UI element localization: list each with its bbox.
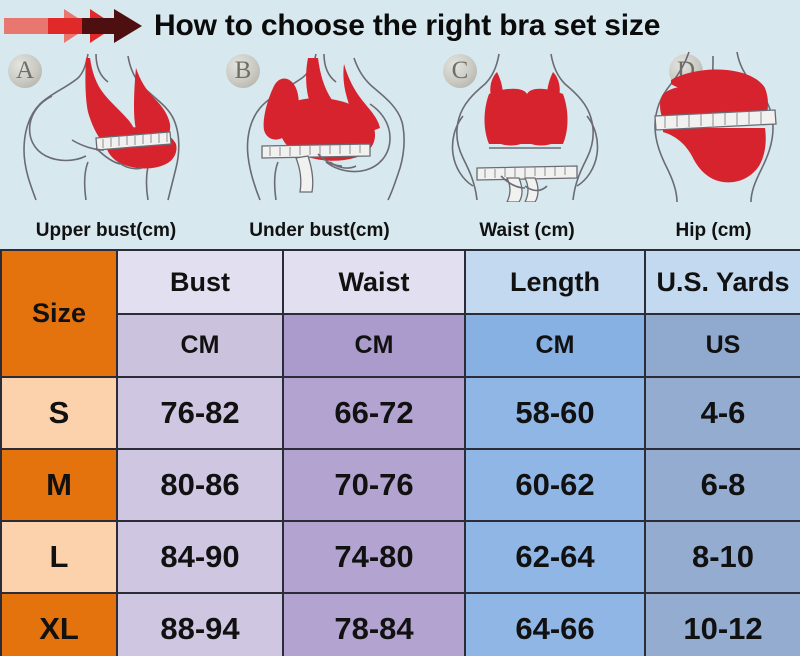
cell-size: XL xyxy=(1,593,117,656)
size-chart-page: How to choose the right bra set size A xyxy=(0,0,800,656)
cell-bust: 76-82 xyxy=(117,377,283,449)
cell-waist: 74-80 xyxy=(283,521,465,593)
table-row: M 80-86 70-76 60-62 6-8 xyxy=(1,449,800,521)
panel-caption-waist: Waist (cm) xyxy=(427,220,627,242)
unit-length: CM xyxy=(465,314,645,377)
header-bust: Bust xyxy=(117,250,283,314)
cell-us-yards: 4-6 xyxy=(645,377,800,449)
waist-measure-illustration xyxy=(427,50,627,202)
header-size: Size xyxy=(1,250,117,377)
table-unit-row: CM CM CM US xyxy=(1,314,800,377)
cell-bust: 84-90 xyxy=(117,521,283,593)
cell-length: 64-66 xyxy=(465,593,645,656)
cell-bust: 88-94 xyxy=(117,593,283,656)
size-table: Size Bust Waist Length U.S. Yards CM CM … xyxy=(0,249,800,656)
panel-caption-upper-bust: Upper bust(cm) xyxy=(0,220,212,242)
header-us-yards: U.S. Yards xyxy=(645,250,800,314)
panel-caption-under-bust: Under bust(cm) xyxy=(212,220,427,242)
header-waist: Waist xyxy=(283,250,465,314)
page-title: How to choose the right bra set size xyxy=(154,11,660,41)
cell-bust: 80-86 xyxy=(117,449,283,521)
upper-bust-measure-illustration xyxy=(0,50,212,202)
panel-upper-bust: A xyxy=(0,48,212,248)
cell-us-yards: 6-8 xyxy=(645,449,800,521)
cell-size: L xyxy=(1,521,117,593)
cell-waist: 78-84 xyxy=(283,593,465,656)
hip-measure-illustration xyxy=(627,50,800,202)
table-header-row: Size Bust Waist Length U.S. Yards xyxy=(1,250,800,314)
unit-bust: CM xyxy=(117,314,283,377)
table-row: L 84-90 74-80 62-64 8-10 xyxy=(1,521,800,593)
cell-us-yards: 8-10 xyxy=(645,521,800,593)
cell-length: 60-62 xyxy=(465,449,645,521)
unit-us-yards: US xyxy=(645,314,800,377)
panel-under-bust: B xyxy=(212,48,427,248)
cell-us-yards: 10-12 xyxy=(645,593,800,656)
panel-caption-hip: Hip (cm) xyxy=(627,220,800,242)
panel-waist: C xyxy=(427,48,627,248)
cell-size: S xyxy=(1,377,117,449)
measurement-guide-section: How to choose the right bra set size A xyxy=(0,0,800,249)
table-row: S 76-82 66-72 58-60 4-6 xyxy=(1,377,800,449)
table-row: XL 88-94 78-84 64-66 10-12 xyxy=(1,593,800,656)
cell-length: 58-60 xyxy=(465,377,645,449)
under-bust-measure-illustration xyxy=(212,50,427,202)
cell-waist: 70-76 xyxy=(283,449,465,521)
panel-hip: D xyxy=(627,48,800,248)
cell-size: M xyxy=(1,449,117,521)
cell-length: 62-64 xyxy=(465,521,645,593)
triple-arrow-right-icon xyxy=(2,5,150,47)
cell-waist: 66-72 xyxy=(283,377,465,449)
title-row: How to choose the right bra set size xyxy=(0,2,800,50)
header-length: Length xyxy=(465,250,645,314)
unit-waist: CM xyxy=(283,314,465,377)
panels-row: A xyxy=(0,48,800,248)
